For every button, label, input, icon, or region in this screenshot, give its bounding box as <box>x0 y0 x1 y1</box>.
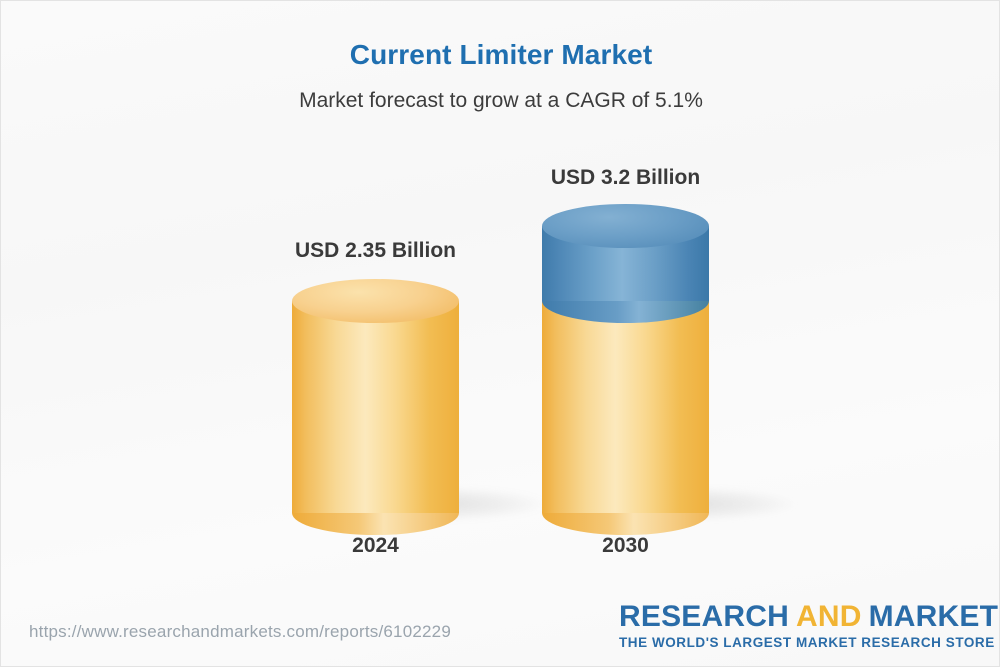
logo-wordmark: RESEARCHANDMARKETS <box>619 601 979 633</box>
bar-cylinder-2024[interactable] <box>292 279 459 513</box>
bar-value-label-2024: USD 2.35 Billion <box>292 239 459 263</box>
bar-chart-plot: USD 2.35 Billion 2024 USD 3.2 Billion <box>1 1 1000 667</box>
cylinder-top-ellipse <box>292 279 459 323</box>
bar-value-label-2030: USD 3.2 Billion <box>542 166 709 190</box>
cylinder-top-ellipse <box>542 204 709 248</box>
bar-category-label-2024: 2024 <box>292 534 459 558</box>
logo-tagline: THE WORLD'S LARGEST MARKET RESEARCH STOR… <box>619 635 979 650</box>
logo-text-and: AND <box>796 600 862 633</box>
report-url[interactable]: https://www.researchandmarkets.com/repor… <box>29 622 451 642</box>
research-and-markets-logo[interactable]: RESEARCHANDMARKETS THE WORLD'S LARGEST M… <box>619 601 979 650</box>
bar-cylinder-2030[interactable] <box>542 204 709 513</box>
cylinder-body <box>292 301 459 513</box>
bar-segment-2030-growth <box>542 204 709 301</box>
bar-segment-2024-base <box>292 279 459 513</box>
logo-text-research: RESEARCH <box>619 600 789 633</box>
bar-category-label-2030: 2030 <box>542 534 709 558</box>
chart-canvas: Current Limiter Market Market forecast t… <box>0 0 1000 667</box>
logo-text-markets: MARKETS <box>869 600 1000 633</box>
